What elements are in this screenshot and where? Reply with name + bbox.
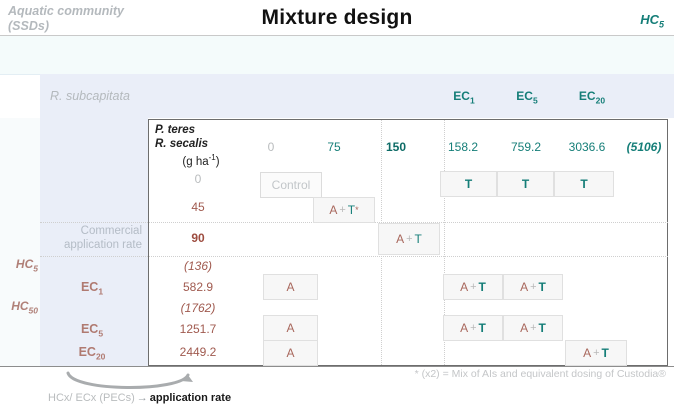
aquatic-community-line1: Aquatic community xyxy=(8,4,124,18)
cell-plus: + xyxy=(468,322,478,334)
ec-header-5-text: EC xyxy=(516,89,533,103)
ec-row-label-5-sub: 5 xyxy=(98,329,103,339)
cell-plus: + xyxy=(528,281,538,293)
cell-at-row90[interactable]: A+T xyxy=(378,223,440,255)
ec-row-label-20: EC20 xyxy=(40,345,144,362)
species-p-teres: P. teres xyxy=(155,124,241,138)
ec-header-1-sub: 1 xyxy=(470,95,475,105)
cell-at-star-row45[interactable]: A+T* xyxy=(313,197,375,223)
ec-header-20: EC20 xyxy=(569,89,615,105)
ec-row-label-5: EC5 xyxy=(40,322,144,339)
cell-a-text: A xyxy=(583,346,591,360)
cell-at-ec1-c2[interactable]: A+T xyxy=(503,274,563,300)
aquatic-community-line2: (SSDs) xyxy=(8,19,49,33)
hc5-top-label: HC5 xyxy=(640,12,664,30)
cell-t-text: T xyxy=(539,321,546,335)
cell-t-text: T xyxy=(348,203,355,217)
commercial-application-rate-label: Commercial application rate xyxy=(40,224,148,252)
side-label-hc50-text: HC xyxy=(11,299,28,313)
cell-t-text: T xyxy=(465,177,472,191)
cell-a-text: A xyxy=(460,280,468,294)
table-bottom-divider xyxy=(0,366,674,367)
side-label-hc5: HC5 xyxy=(0,257,38,273)
side-label-hc50-sub: 50 xyxy=(29,305,38,315)
dose-header-3036: 3036.6 xyxy=(556,140,618,154)
ec-header-1: EC1 xyxy=(443,89,485,105)
cell-a-text: A xyxy=(520,280,528,294)
cell-t-ec5-row0[interactable]: T xyxy=(497,171,554,197)
dose-unit-sup: -1 xyxy=(209,153,216,162)
ec-row-label-1-text: EC xyxy=(81,280,98,294)
ec-row-label-20-sub: 20 xyxy=(96,352,105,362)
cell-a-text: A xyxy=(396,232,404,246)
ec-header-20-sub: 20 xyxy=(596,95,605,105)
cell-plus: + xyxy=(337,204,347,216)
cell-at-ec20[interactable]: A+T xyxy=(565,340,627,366)
row-label-45: 45 xyxy=(155,200,241,214)
aquatic-community-band xyxy=(0,36,674,75)
cell-plus: + xyxy=(591,347,601,359)
side-label-hc50: HC50 xyxy=(0,299,38,315)
arrow-glyph-icon: → xyxy=(135,392,150,404)
cell-t-text: T xyxy=(479,321,486,335)
row-label-1251: 1251.7 xyxy=(155,322,241,336)
cell-a-text: A xyxy=(286,280,294,294)
cell-t-text: T xyxy=(415,232,422,246)
row-label-0: 0 xyxy=(155,172,241,186)
cell-a-ec5[interactable]: A xyxy=(263,315,318,341)
arrow-caption-bold: application rate xyxy=(150,392,231,404)
cell-plus: + xyxy=(468,281,478,293)
commercial-row-bottom-rule xyxy=(40,256,668,257)
algae-species-label: R. subcapitata xyxy=(50,89,130,103)
ec-row-label-5-text: EC xyxy=(81,322,98,336)
dose-header-150: 150 xyxy=(372,140,420,154)
cell-t-ec1-row0[interactable]: T xyxy=(440,171,497,197)
cell-control[interactable]: Control xyxy=(260,172,322,198)
ec-header-20-text: EC xyxy=(579,89,596,103)
ec-header-5-sub: 5 xyxy=(533,95,538,105)
dose-header-75: 75 xyxy=(310,140,358,154)
page-title: Mixture design xyxy=(262,6,413,30)
ec-row-label-20-text: EC xyxy=(79,345,96,359)
side-label-hc5-sub: 5 xyxy=(33,263,38,273)
cell-a-text: A xyxy=(520,321,528,335)
ec-row-label-1-sub: 1 xyxy=(98,287,103,297)
cell-plus: + xyxy=(528,322,538,334)
aquatic-community-label: Aquatic community (SSDs) xyxy=(8,4,238,34)
cell-at-ec1-c1[interactable]: A+T xyxy=(443,274,503,300)
slide-root: Mixture design Aquatic community (SSDs) … xyxy=(0,0,674,410)
cell-at-ec5-c2[interactable]: A+T xyxy=(503,315,563,341)
dose-header-0: 0 xyxy=(247,140,295,154)
commercial-line2: application rate xyxy=(64,239,142,251)
cell-a-text: A xyxy=(460,321,468,335)
side-label-hc5-text: HC xyxy=(16,257,33,271)
footnote-star-icon: * xyxy=(355,205,359,215)
dose-header-5106: (5106) xyxy=(618,140,670,154)
cell-at-ec5-c1[interactable]: A+T xyxy=(443,315,503,341)
cell-t-text: T xyxy=(522,177,529,191)
cell-a-text: A xyxy=(329,203,337,217)
cell-a-text: A xyxy=(286,321,294,335)
ec-row-label-1: EC1 xyxy=(40,280,144,297)
hc5-top-sub: 5 xyxy=(659,20,664,30)
dose-unit-end: ) xyxy=(216,156,220,168)
cell-t-text: T xyxy=(479,280,486,294)
arrow-caption: HCx/ ECx (PECs)→application rate xyxy=(48,392,231,404)
dose-unit-label: (g ha-1) xyxy=(155,151,241,169)
cell-plus: + xyxy=(404,233,414,245)
cell-t-text: T xyxy=(580,177,587,191)
cell-a-ec1[interactable]: A xyxy=(263,274,318,300)
dose-header-759: 759.2 xyxy=(497,140,555,154)
cell-t-text: T xyxy=(602,346,609,360)
left-white-column xyxy=(0,118,40,366)
table-header-species: P. teres R. secalis (g ha-1) xyxy=(155,124,241,169)
row-label-2449: 2449.2 xyxy=(155,345,241,359)
row-label-136: (136) xyxy=(155,259,241,273)
dose-header-158: 158.2 xyxy=(434,140,492,154)
arrow-caption-prefix: HCx/ ECx (PECs) xyxy=(48,392,135,404)
footnote-text: * (x2) = Mix of AIs and equivalent dosin… xyxy=(415,368,666,380)
cell-t-text: T xyxy=(539,280,546,294)
row-label-90: 90 xyxy=(155,231,241,245)
ec-header-5: EC5 xyxy=(506,89,548,105)
ec-header-1-text: EC xyxy=(453,89,470,103)
cell-a-ec20[interactable]: A xyxy=(263,340,318,366)
cell-t-ec20-row0[interactable]: T xyxy=(554,171,614,197)
cell-a-text: A xyxy=(286,346,294,360)
hc5-top-text: HC xyxy=(640,12,659,27)
row-label-1762: (1762) xyxy=(155,301,241,315)
row-label-582: 582.9 xyxy=(155,280,241,294)
dose-unit-text: (g ha xyxy=(182,156,208,168)
commercial-line1: Commercial xyxy=(81,225,142,237)
species-r-secalis: R. secalis xyxy=(155,138,241,152)
